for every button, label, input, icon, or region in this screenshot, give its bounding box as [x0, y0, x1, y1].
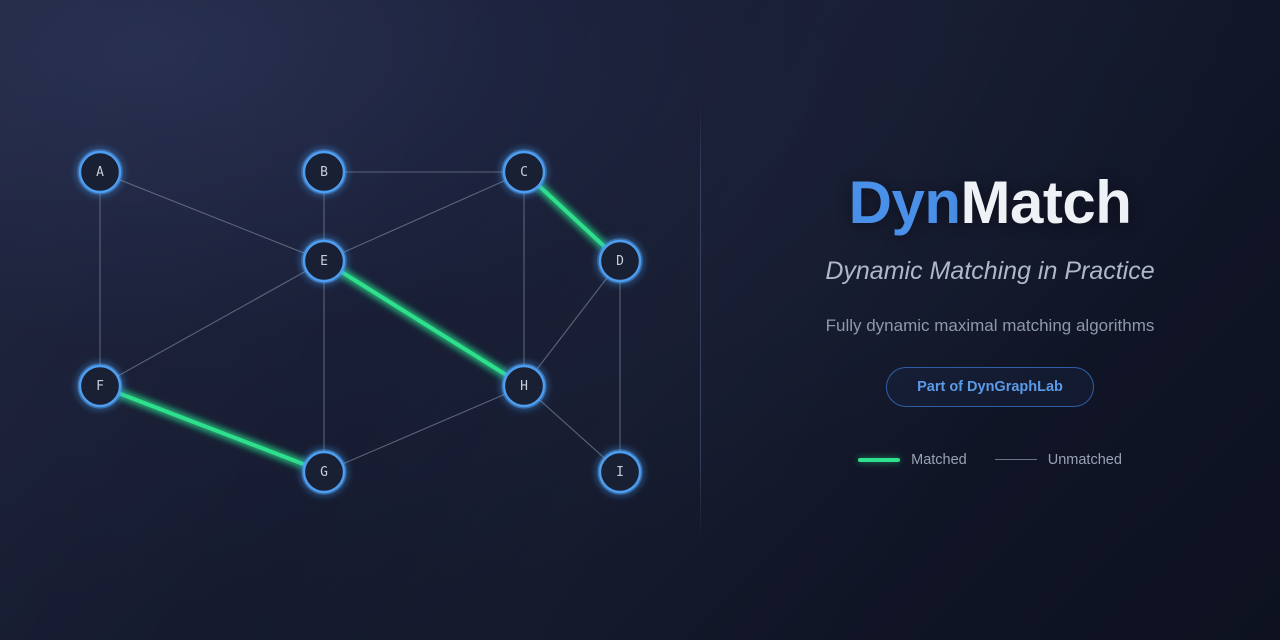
page-title: DynMatch	[849, 173, 1132, 233]
node-label: D	[616, 254, 624, 269]
graph-visualization: ABCDEFGHI	[0, 0, 700, 640]
graph-edge-matched[interactable]	[119, 393, 305, 464]
graph-node[interactable]: H	[503, 365, 545, 407]
subtitle: Dynamic Matching in Practice	[825, 257, 1154, 286]
node-label: H	[520, 379, 528, 394]
graph-edge-unmatched[interactable]	[343, 394, 505, 464]
graph-node[interactable]: E	[303, 240, 345, 282]
node-label: E	[320, 254, 328, 269]
node-label: B	[320, 165, 328, 180]
legend: Matched Unmatched	[858, 452, 1122, 468]
graph-edge-unmatched[interactable]	[536, 277, 607, 369]
graph-edge-matched[interactable]	[341, 272, 506, 375]
unmatched-edge-layer	[100, 172, 620, 464]
legend-item-matched: Matched	[858, 452, 967, 468]
node-label: F	[96, 379, 104, 394]
tagline: Fully dynamic maximal matching algorithm…	[826, 316, 1155, 336]
title-suffix: Match	[961, 169, 1132, 236]
info-panel: DynMatch Dynamic Matching in Practice Fu…	[700, 0, 1280, 640]
part-of-dyngraphlab-badge[interactable]: Part of DynGraphLab	[886, 367, 1094, 407]
node-label: I	[616, 465, 624, 480]
legend-label-matched: Matched	[911, 452, 967, 468]
graph-node[interactable]: F	[79, 365, 121, 407]
graph-node[interactable]: C	[503, 151, 545, 193]
legend-item-unmatched: Unmatched	[995, 452, 1122, 468]
node-label: A	[96, 165, 104, 180]
graph-node[interactable]: B	[303, 151, 345, 193]
graph-edge-unmatched[interactable]	[118, 271, 306, 376]
app-root: ABCDEFGHI DynMatch Dynamic Matching in P…	[0, 0, 1280, 640]
graph-edge-unmatched[interactable]	[343, 180, 506, 252]
legend-label-unmatched: Unmatched	[1048, 452, 1122, 468]
matched-edge-layer	[119, 172, 605, 465]
graph-node[interactable]: D	[599, 240, 641, 282]
graph-node[interactable]: A	[79, 151, 121, 193]
title-prefix: Dyn	[849, 169, 961, 236]
graph-edge-unmatched[interactable]	[539, 400, 604, 459]
graph-node[interactable]: G	[303, 451, 345, 493]
graph-node[interactable]: I	[599, 451, 641, 493]
unmatched-line-icon	[995, 459, 1037, 460]
graph-edge-unmatched[interactable]	[119, 180, 305, 254]
matched-line-icon	[858, 458, 900, 462]
graph-edge-matched[interactable]	[539, 186, 605, 247]
node-label: C	[520, 165, 528, 180]
node-label: G	[320, 465, 328, 480]
